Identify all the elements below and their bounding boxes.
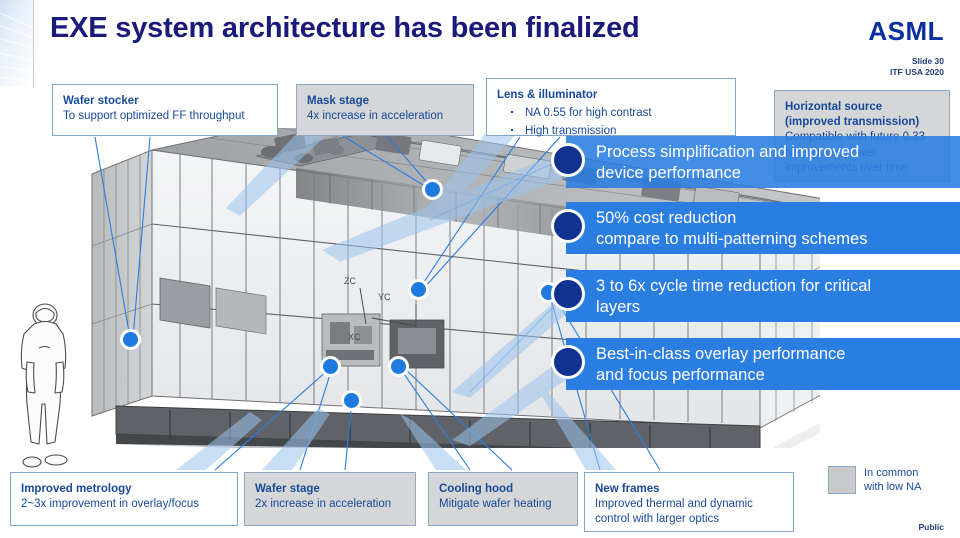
callout-title: Wafer stocker [63,94,267,109]
pin-lens-illuminator[interactable] [408,279,429,300]
callout-subtitle: Mitigate wafer heating [439,497,567,512]
legend: In common with low NA [828,466,921,495]
callout-improved-metrology[interactable]: Improved metrology 2~3x improvement in o… [10,472,238,526]
callout-title: Wafer stage [255,482,405,497]
callout-subtitle: 2~3x improvement in overlay/focus [21,497,227,512]
callout-subtitle: 2x increase in acceleration [255,497,405,512]
callout-title-second-line: (improved transmission) [785,115,939,130]
callout-title: Improved metrology [21,482,227,497]
benefit-line-2: device performance [596,163,950,184]
callout-title: Horizontal source [785,100,939,115]
callout-bullet: NA 0.55 for high contrast [511,106,725,121]
page-title: EXE system architecture has been finaliz… [50,12,690,45]
benefit-cycle-time[interactable]: 3 to 6x cycle time reduction for critica… [566,270,960,322]
legend-swatch-in-common [828,466,856,494]
callout-title: Mask stage [307,94,463,109]
benefit-line-1: Process simplification and improved [596,142,950,163]
event-name: ITF USA 2020 [890,67,944,78]
callout-subtitle: Improved thermal and dynamic control wit… [595,497,783,527]
benefit-bullet-dot [551,143,585,177]
callout-title: Lens & illuminator [497,88,725,103]
decorative-corner-graphic [0,0,34,86]
callout-bullet-list: NA 0.55 for high contrast High transmiss… [497,106,725,139]
benefit-line-2: layers [596,297,950,318]
callout-subtitle: 4x increase in acceleration [307,109,463,124]
callout-mask-stage[interactable]: Mask stage 4x increase in acceleration [296,84,474,136]
legend-text: In common with low NA [864,466,921,495]
pin-wafer-stage[interactable] [341,390,362,411]
corner-divider [33,0,34,88]
classification-label: Public [918,522,944,532]
legend-line-2: with low NA [864,480,921,494]
callout-lens-illuminator[interactable]: Lens & illuminator NA 0.55 for high cont… [486,78,736,136]
benefit-line-1: 3 to 6x cycle time reduction for critica… [596,276,950,297]
benefit-bullet-dot [551,277,585,311]
benefit-line-1: Best-in-class overlay performance [596,344,950,365]
callout-cooling-hood[interactable]: Cooling hood Mitigate wafer heating [428,472,578,526]
callout-wafer-stocker[interactable]: Wafer stocker To support optimized FF th… [52,84,278,136]
benefit-overlay-focus[interactable]: Best-in-class overlay performance and fo… [566,338,960,390]
callout-title: Cooling hood [439,482,567,497]
callout-wafer-stage[interactable]: Wafer stage 2x increase in acceleration [244,472,416,526]
svg-text:YC: YC [378,292,391,302]
benefit-process-simplification[interactable]: Process simplification and improved devi… [566,136,960,188]
legend-line-1: In common [864,466,921,480]
callout-new-frames[interactable]: New frames Improved thermal and dynamic … [584,472,794,532]
callout-title: New frames [595,482,783,497]
benefit-bullet-dot [551,209,585,243]
benefit-line-1: 50% cost reduction [596,208,950,229]
callout-subtitle: To support optimized FF throughput [63,109,267,124]
svg-text:ZC: ZC [344,276,356,286]
svg-text:XC: XC [348,332,361,342]
slide-canvas: EXE system architecture has been finaliz… [0,0,960,538]
benefit-bullet-dot [551,345,585,379]
benefit-cost-reduction[interactable]: 50% cost reduction compare to multi-patt… [566,202,960,254]
pin-mask-stage[interactable] [422,179,443,200]
pin-wafer-stocker[interactable] [120,329,141,350]
benefit-line-2: compare to multi-patterning schemes [596,229,950,250]
asml-logo: ASML [868,16,944,47]
benefit-line-2: and focus performance [596,365,950,386]
pin-cooling-hood[interactable] [388,356,409,377]
pin-improved-metrology[interactable] [320,356,341,377]
operator-scale-figure [12,300,78,470]
slide-meta: Slide 30 ITF USA 2020 [890,56,944,79]
slide-number: Slide 30 [890,56,944,67]
